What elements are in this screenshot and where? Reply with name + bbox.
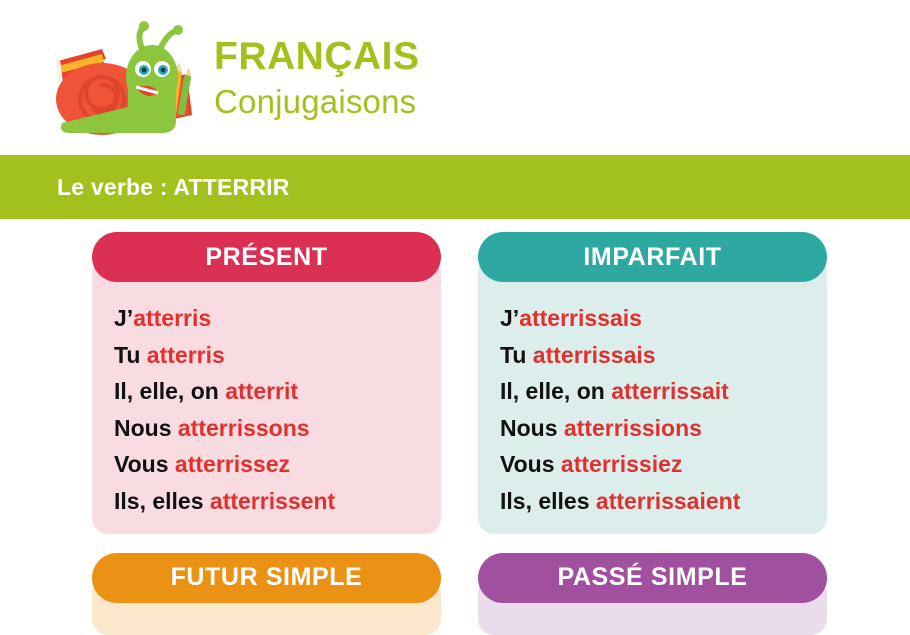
tense-label: PRÉSENT (205, 243, 327, 272)
pronoun: Nous (500, 415, 564, 441)
card-header-present: PRÉSENT (92, 232, 441, 282)
conjugation-card-passe-simple: PASSÉ SIMPLE (478, 553, 827, 635)
conjugation-line: Nous atterrissions (500, 410, 827, 447)
tense-label: PASSÉ SIMPLE (557, 563, 747, 592)
pronoun: Ils, elles (114, 488, 210, 514)
verb-form: atterrissiez (561, 451, 682, 477)
conjugation-line: Vous atterrissez (114, 446, 441, 483)
verb-form: atterrissaient (596, 488, 740, 514)
card-body-imparfait: J’atterrissais Tu atterrissais Il, elle,… (478, 256, 827, 534)
conjugation-line: Il, elle, on atterrit (114, 373, 441, 410)
card-header-passe-simple: PASSÉ SIMPLE (478, 553, 827, 603)
logo-subtitle: Conjugaisons (214, 85, 420, 118)
verb-form: atterris (147, 342, 225, 368)
card-header-imparfait: IMPARFAIT (478, 232, 827, 282)
verb-title: Le verbe : ATTERRIR (57, 174, 290, 201)
verb-form: atterrissait (611, 378, 729, 404)
conjugation-line: Vous atterrissiez (500, 446, 827, 483)
conjugation-line: Ils, elles atterrissent (114, 483, 441, 520)
pronoun: Tu (114, 342, 147, 368)
pronoun: Vous (500, 451, 561, 477)
conjugation-line: Il, elle, on atterrissait (500, 373, 827, 410)
verb-title-bar: Le verbe : ATTERRIR (0, 155, 910, 219)
conjugation-line: Nous atterrissons (114, 410, 441, 447)
conjugation-card-futur-simple: FUTUR SIMPLE (92, 553, 441, 635)
tense-label: FUTUR SIMPLE (171, 563, 363, 592)
verb-form: atterris (133, 305, 211, 331)
page-header: FRANÇAIS Conjugaisons (0, 0, 910, 155)
pronoun: Tu (500, 342, 533, 368)
pronoun: Il, elle, on (114, 378, 225, 404)
verb-form: atterrissais (519, 305, 642, 331)
snail-with-books-icon (44, 19, 204, 137)
pronoun: Il, elle, on (500, 378, 611, 404)
card-body-present: J’atterris Tu atterris Il, elle, on atte… (92, 256, 441, 534)
verb-form: atterrissons (178, 415, 310, 441)
verb-form: atterrissent (210, 488, 335, 514)
conjugation-card-imparfait: IMPARFAIT J’atterrissais Tu atterrissais… (478, 232, 827, 534)
conjugation-line: J’atterrissais (500, 300, 827, 337)
conjugation-card-present: PRÉSENT J’atterris Tu atterris Il, elle,… (92, 232, 441, 534)
pronoun: Vous (114, 451, 175, 477)
verb-form: atterrit (225, 378, 298, 404)
pronoun: J’ (500, 305, 519, 331)
pronoun: Nous (114, 415, 178, 441)
conjugation-line: Tu atterrissais (500, 337, 827, 374)
conjugation-card-grid: PRÉSENT J’atterris Tu atterris Il, elle,… (0, 219, 910, 635)
verb-form: atterrissions (564, 415, 702, 441)
verb-form: atterrissais (533, 342, 656, 368)
conjugation-line: Tu atterris (114, 337, 441, 374)
card-header-futur-simple: FUTUR SIMPLE (92, 553, 441, 603)
conjugation-line: Ils, elles atterrissaient (500, 483, 827, 520)
verb-form: atterrissez (175, 451, 290, 477)
pronoun: Ils, elles (500, 488, 596, 514)
pronoun: J’ (114, 305, 133, 331)
conjugation-line: J’atterris (114, 300, 441, 337)
logo-title: FRANÇAIS (214, 37, 420, 76)
tense-label: IMPARFAIT (583, 243, 721, 272)
logo-text-block: FRANÇAIS Conjugaisons (214, 37, 420, 118)
